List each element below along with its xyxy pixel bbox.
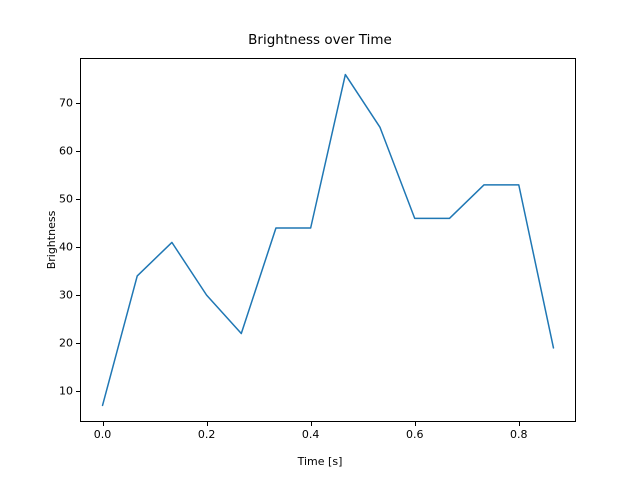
y-axis-tick-label: 70 (40, 97, 73, 110)
y-axis-tick-mark (76, 151, 80, 152)
y-axis-tick-label: 30 (40, 289, 73, 302)
x-axis-tick-label: 0.4 (291, 428, 331, 441)
x-axis-tick-mark (519, 422, 520, 426)
x-axis-tick-mark (103, 422, 104, 426)
chart-title: Brightness over Time (0, 32, 640, 48)
x-axis-tick-label: 0.2 (187, 428, 227, 441)
plot-axes-frame (80, 58, 576, 422)
x-axis-label: Time [s] (0, 455, 640, 468)
y-axis-tick-mark (76, 391, 80, 392)
x-axis-tick-mark (311, 422, 312, 426)
x-axis-tick-label: 0.0 (83, 428, 123, 441)
x-axis-tick-mark (207, 422, 208, 426)
y-axis-tick-label: 20 (40, 337, 73, 350)
y-axis-tick-mark (76, 295, 80, 296)
x-axis-tick-label: 0.6 (395, 428, 435, 441)
y-axis-tick-label: 10 (40, 385, 73, 398)
y-axis-tick-mark (76, 247, 80, 248)
x-axis-tick-label: 0.8 (499, 428, 539, 441)
y-axis-tick-mark (76, 343, 80, 344)
y-axis-tick-mark (76, 199, 80, 200)
y-axis-tick-label: 50 (40, 193, 73, 206)
y-axis-label: Brightness (45, 211, 58, 270)
figure-canvas: Brightness over Time 10203040506070 0.00… (0, 0, 640, 480)
y-axis-tick-mark (76, 103, 80, 104)
x-axis-tick-mark (415, 422, 416, 426)
y-axis-tick-label: 60 (40, 145, 73, 158)
